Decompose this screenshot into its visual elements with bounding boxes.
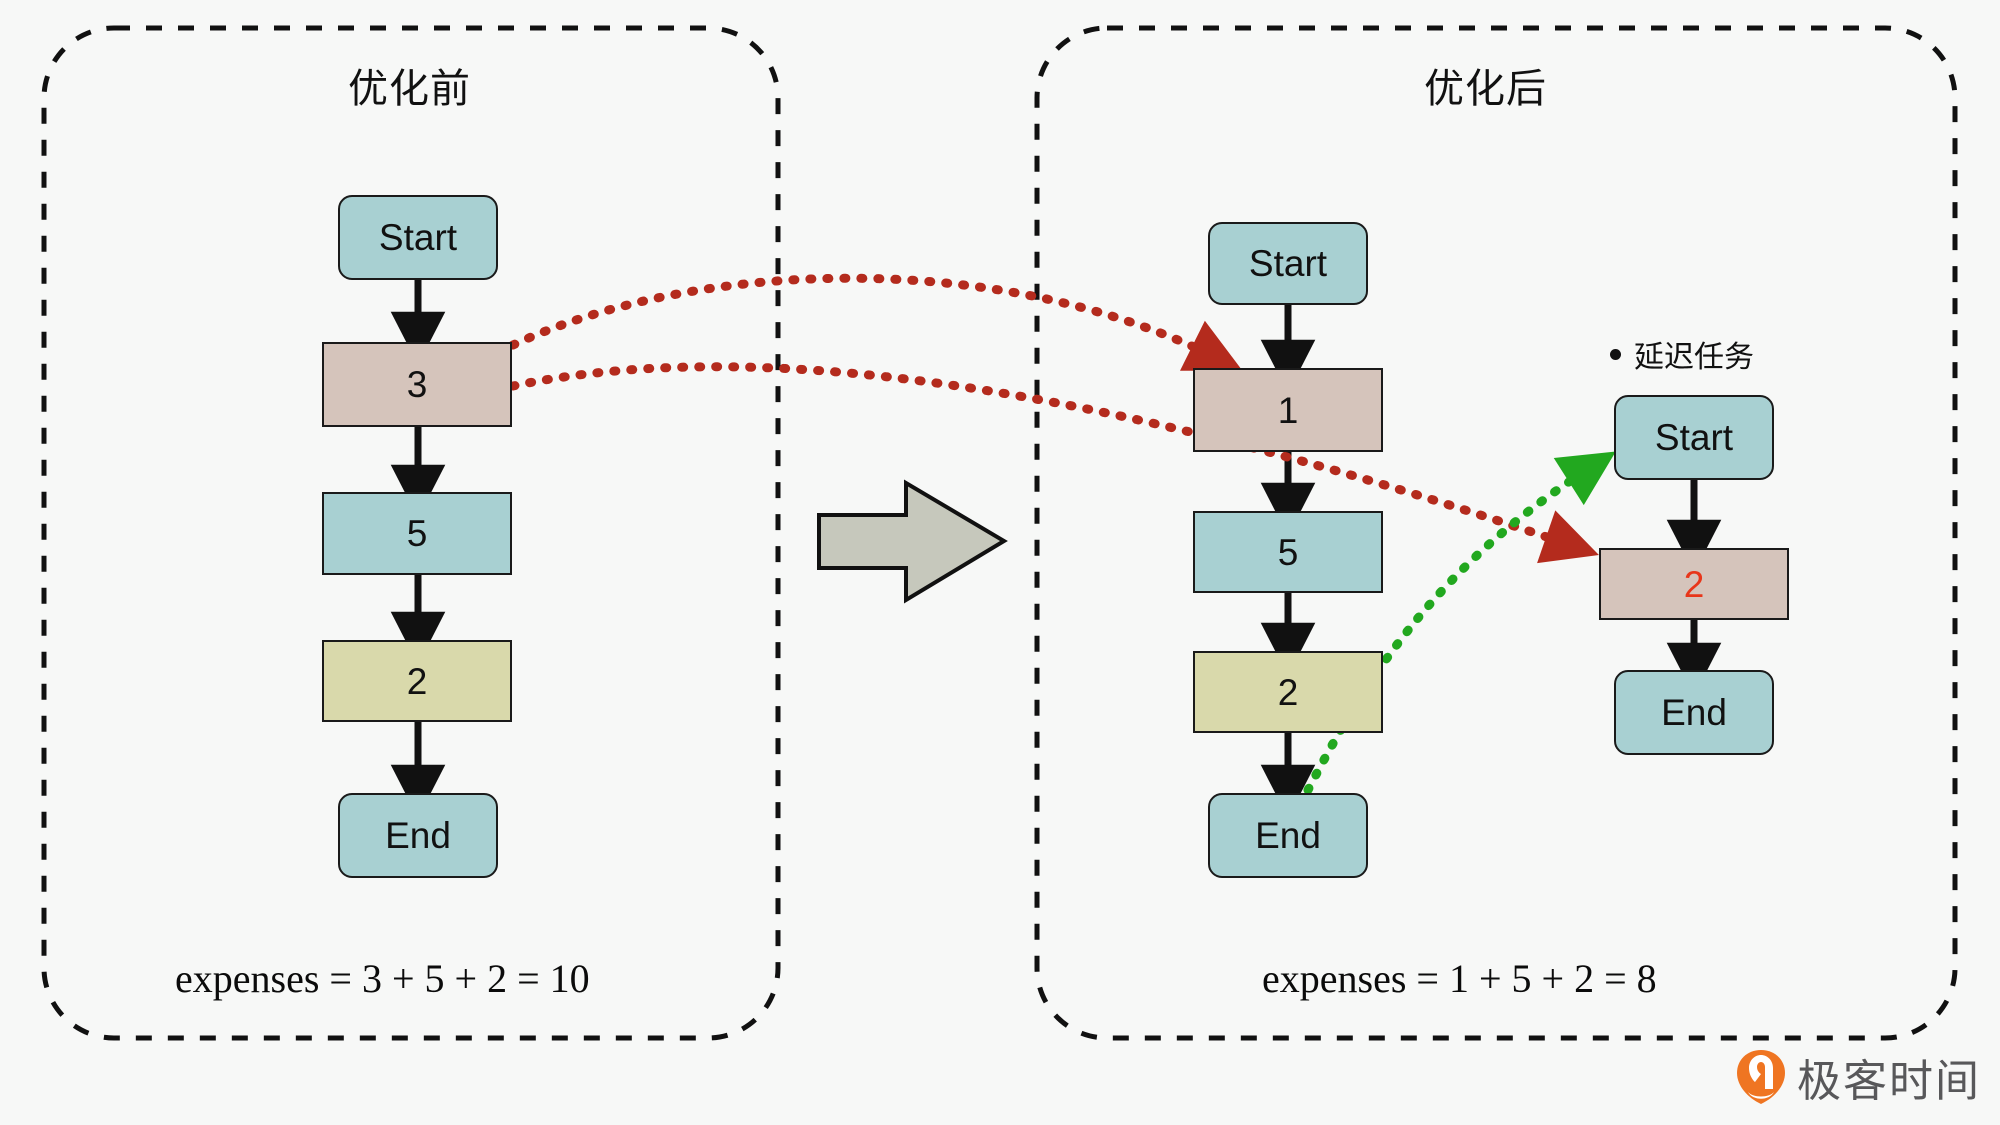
panel-title-before: 优化前 <box>348 56 471 114</box>
deferred-tasks-label: 延迟任务 <box>1610 332 1754 376</box>
node-before-5[interactable]: 5 <box>322 492 512 575</box>
node-after-5[interactable]: 5 <box>1193 511 1383 593</box>
node-label: 2 <box>1278 674 1299 711</box>
node-deferred-start[interactable]: Start <box>1614 395 1774 480</box>
node-label: 2 <box>1684 566 1705 603</box>
node-after-start[interactable]: Start <box>1208 222 1368 305</box>
node-label: Start <box>1655 419 1733 456</box>
node-after-end[interactable]: End <box>1208 793 1368 878</box>
node-before-2[interactable]: 2 <box>322 640 512 722</box>
node-after-1[interactable]: 1 <box>1193 368 1383 452</box>
node-label: 2 <box>407 663 428 700</box>
node-label: 1 <box>1278 392 1299 429</box>
panel-outline-after <box>1037 28 1955 1038</box>
brand-text: 极客时间 <box>1797 1045 1981 1109</box>
brand-watermark: 极客时间 <box>1735 1045 1981 1109</box>
connector-red-to-after-1 <box>513 278 1215 357</box>
node-after-2[interactable]: 2 <box>1193 651 1383 733</box>
node-deferred-2[interactable]: 2 <box>1599 548 1789 620</box>
node-deferred-end[interactable]: End <box>1614 670 1774 755</box>
node-label: End <box>1661 694 1727 731</box>
panel-title-after: 优化后 <box>1424 56 1547 114</box>
node-label: 3 <box>407 366 428 403</box>
connector-red-to-deferred-2 <box>513 367 1570 545</box>
diagram-canvas: 优化前 Start 3 5 2 End expenses = 3 + 5 + 2… <box>0 0 2000 1125</box>
node-before-end[interactable]: End <box>338 793 498 878</box>
big-right-arrow <box>819 483 1004 600</box>
node-label: 5 <box>407 515 428 552</box>
node-before-start[interactable]: Start <box>338 195 498 280</box>
node-label: End <box>385 817 451 854</box>
node-label: Start <box>1249 245 1327 282</box>
geektime-logo-icon <box>1735 1048 1787 1106</box>
node-label: 5 <box>1278 534 1299 571</box>
expenses-before: expenses = 3 + 5 + 2 = 10 <box>175 955 590 1002</box>
node-label: End <box>1255 817 1321 854</box>
deferred-tasks-text: 延迟任务 <box>1634 332 1754 376</box>
bullet-icon <box>1610 349 1621 360</box>
node-label: Start <box>379 219 457 256</box>
expenses-after: expenses = 1 + 5 + 2 = 8 <box>1262 955 1657 1002</box>
node-before-3[interactable]: 3 <box>322 342 512 427</box>
